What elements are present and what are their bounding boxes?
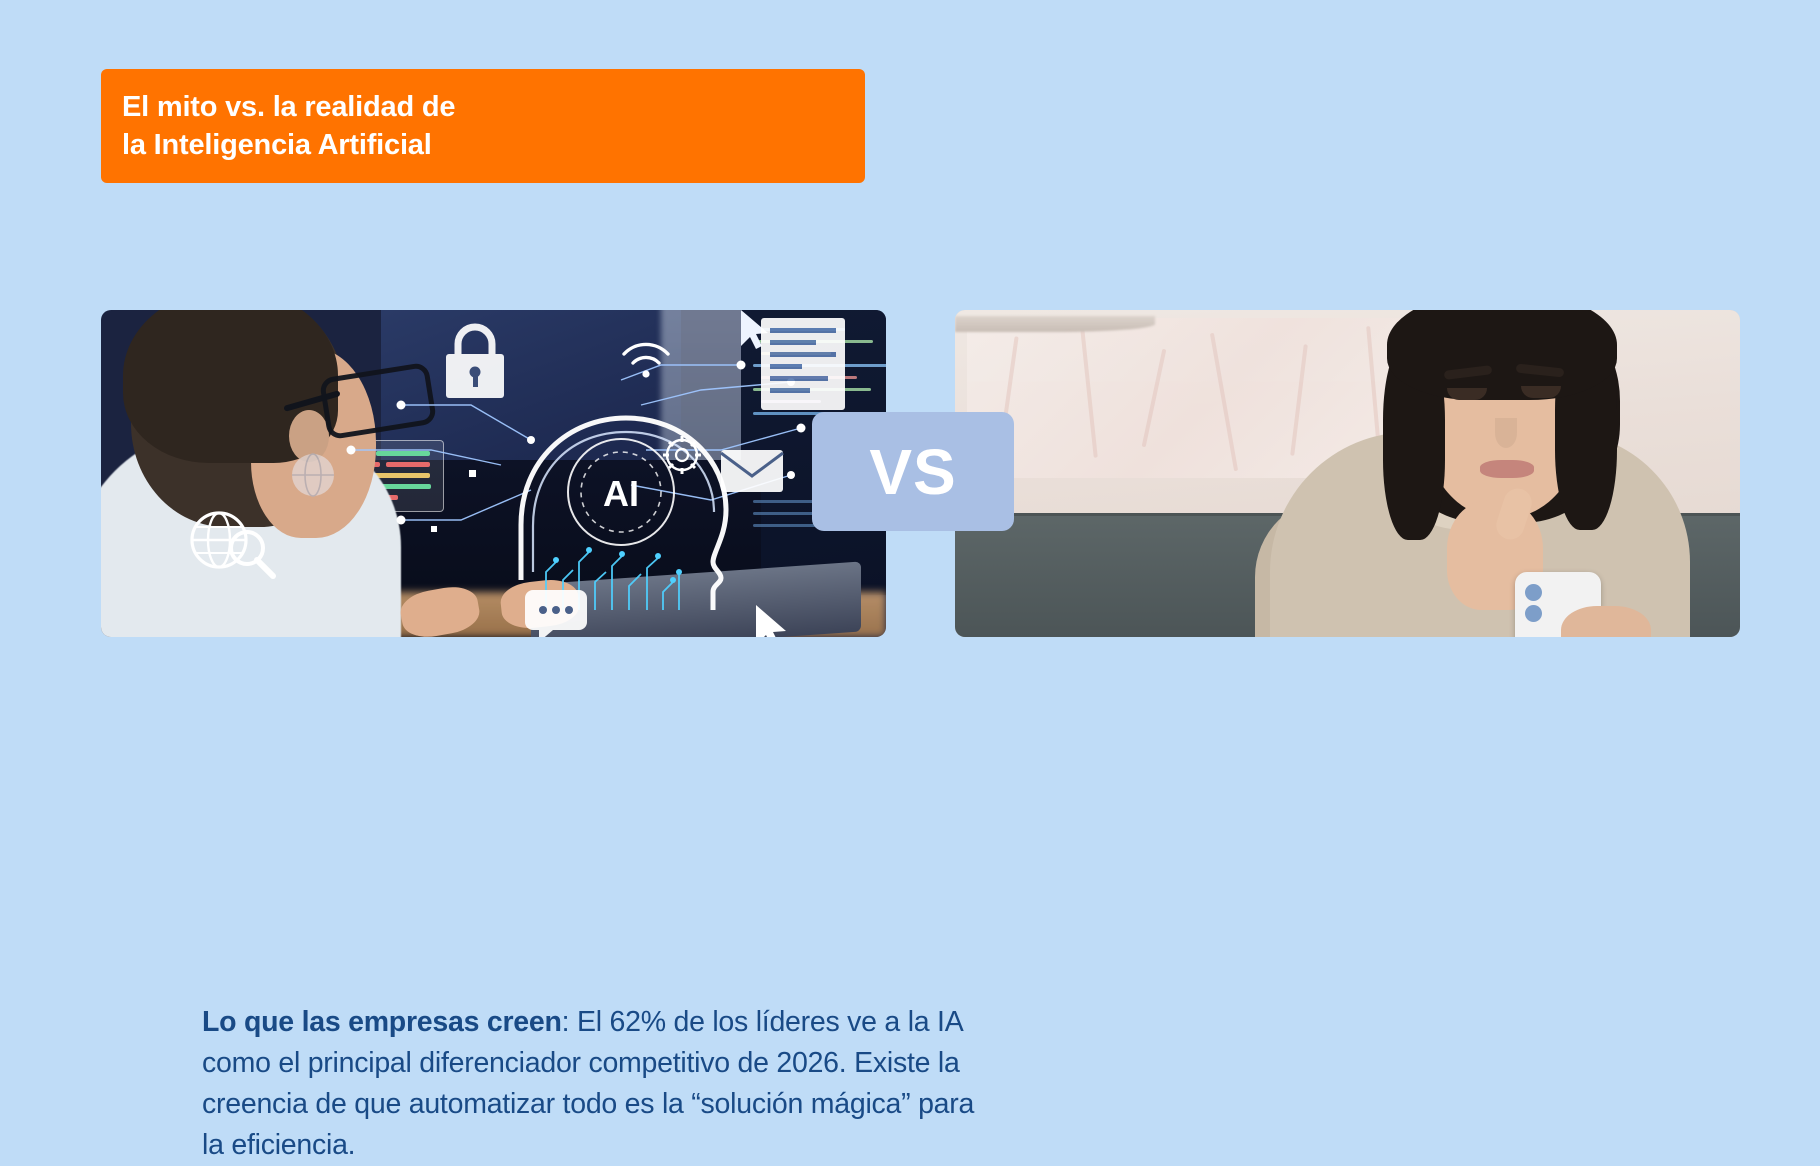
- ai-label: AI: [603, 473, 639, 514]
- left-caption-lead: Lo que las empresas creen: [202, 1006, 562, 1038]
- globe-icon: [292, 454, 334, 496]
- document-icon: [761, 318, 845, 410]
- shelf-shape: [955, 316, 1155, 332]
- left-caption: Lo que las empresas creen: El 62% de los…: [202, 1002, 992, 1166]
- woman-eye-left: [1447, 388, 1487, 400]
- left-photo-card: AI: [101, 310, 886, 637]
- envelope-icon: [721, 450, 783, 492]
- comparison-column-left: AI: [101, 310, 886, 637]
- globe-search-icon: [192, 513, 273, 576]
- title-line-1: El mito vs. la realidad de: [122, 88, 865, 126]
- cursor-icon: [756, 605, 786, 637]
- title-line-2: la Inteligencia Artificial: [122, 126, 865, 164]
- chat-bubble-icon: [525, 590, 587, 637]
- vs-separator-badge: VS: [812, 412, 1014, 531]
- title-banner: El mito vs. la realidad de la Inteligenc…: [101, 69, 865, 183]
- woman-nose: [1495, 418, 1517, 448]
- left-caption-separator: :: [562, 1006, 577, 1038]
- ai-overlay-graphic: AI: [101, 310, 886, 637]
- woman-eye-right: [1521, 386, 1561, 398]
- woman-lips: [1480, 460, 1534, 478]
- right-photo-card: [955, 310, 1740, 637]
- lock-icon: [446, 327, 504, 398]
- wifi-icon: [624, 344, 668, 377]
- woman-hand-phone: [1561, 606, 1651, 637]
- comparison-column-right: Lo que ya está pasando: El candidato tie…: [955, 310, 1740, 637]
- vs-label: VS: [869, 435, 956, 509]
- woman-hair-front: [1387, 310, 1617, 400]
